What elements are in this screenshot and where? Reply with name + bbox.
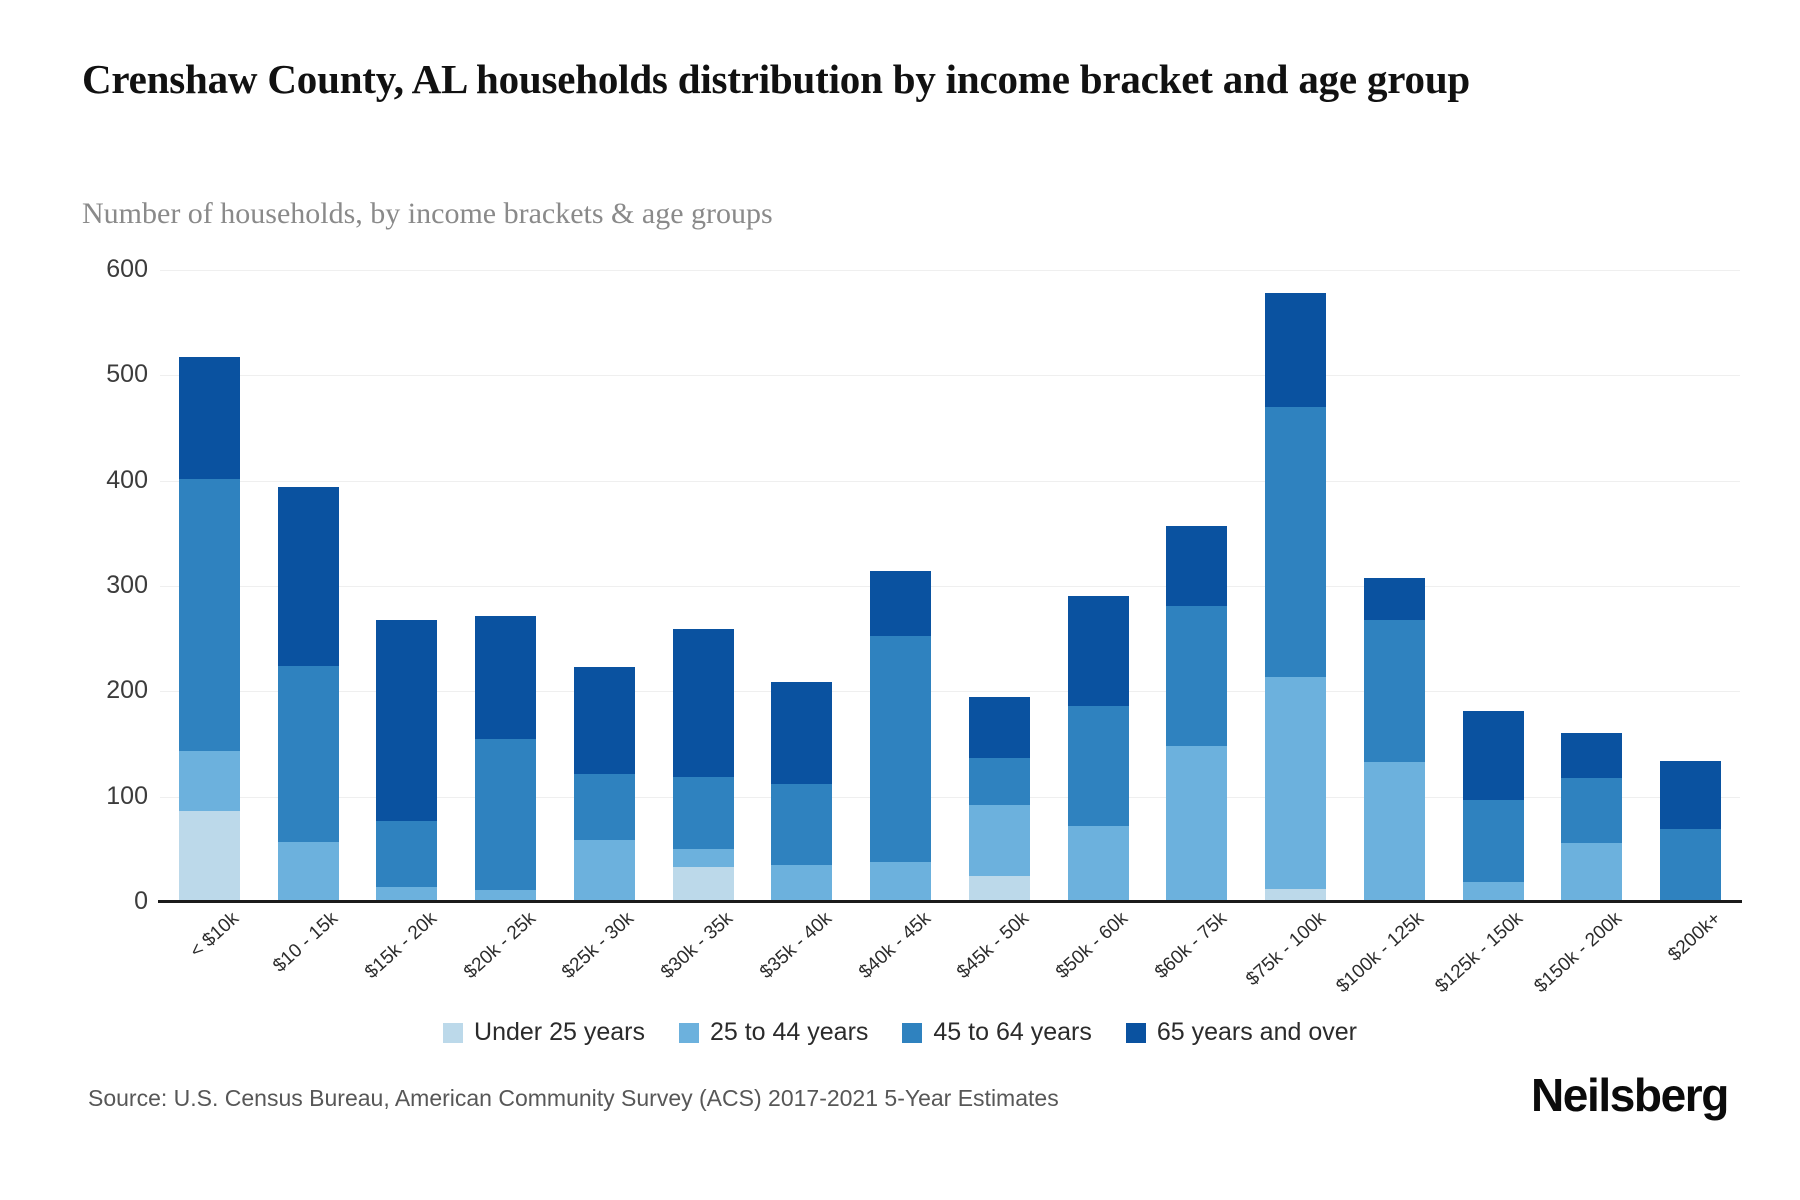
x-axis-tick-label: $75k - 100k — [1242, 908, 1331, 991]
bar-segment[interactable] — [1660, 761, 1721, 829]
legend-item[interactable]: 65 years and over — [1126, 1018, 1357, 1047]
legend-item-label: 25 to 44 years — [710, 1018, 868, 1047]
bar-segment[interactable] — [673, 867, 734, 902]
bar-segment[interactable] — [870, 571, 931, 635]
bar-segment[interactable] — [278, 487, 339, 666]
bar-segment[interactable] — [1265, 407, 1326, 677]
legend-item[interactable]: 25 to 44 years — [679, 1018, 868, 1047]
bar-segment[interactable] — [673, 777, 734, 850]
x-axis-line — [158, 900, 1742, 903]
chart-legend: Under 25 years25 to 44 years45 to 64 yea… — [0, 1018, 1800, 1047]
bar-group[interactable] — [969, 270, 1030, 902]
bar-segment[interactable] — [870, 862, 931, 902]
x-axis-tick-label: $30k - 35k — [657, 908, 738, 984]
bar-segment[interactable] — [1561, 733, 1622, 777]
legend-item-label: 45 to 64 years — [933, 1018, 1091, 1047]
bar-segment[interactable] — [969, 876, 1030, 902]
x-axis-tick-label: $20k - 25k — [460, 908, 541, 984]
x-axis-tick-label: $45k - 50k — [953, 908, 1034, 984]
bar-segment[interactable] — [1660, 829, 1721, 902]
bar-group[interactable] — [771, 270, 832, 902]
bar-group[interactable] — [179, 270, 240, 902]
y-axis-tick-label: 600 — [28, 255, 148, 284]
bar-segment[interactable] — [179, 811, 240, 902]
source-note: Source: U.S. Census Bureau, American Com… — [88, 1085, 1059, 1112]
x-axis-tick-label: $125k - 150k — [1431, 908, 1527, 998]
legend-item-label: 65 years and over — [1157, 1018, 1357, 1047]
bar-segment[interactable] — [1068, 596, 1129, 707]
bar-segment[interactable] — [1068, 706, 1129, 826]
y-axis-tick-label: 0 — [28, 887, 148, 916]
bar-group[interactable] — [1265, 270, 1326, 902]
bar-segment[interactable] — [673, 849, 734, 867]
bar-segment[interactable] — [1463, 800, 1524, 882]
x-axis-tick-label: $50k - 60k — [1052, 908, 1133, 984]
bar-segment[interactable] — [771, 682, 832, 784]
x-axis-tick-label: $40k - 45k — [855, 908, 936, 984]
bar-segment[interactable] — [1364, 762, 1425, 902]
bar-segment[interactable] — [1364, 578, 1425, 620]
x-axis-tick-label: $10 - 15k — [269, 908, 343, 977]
x-axis-tick-label: $25k - 30k — [558, 908, 639, 984]
bar-segment[interactable] — [1265, 293, 1326, 407]
bar-segment[interactable] — [278, 666, 339, 842]
bar-segment[interactable] — [870, 636, 931, 862]
x-axis-tick-label: $100k - 125k — [1333, 908, 1429, 998]
bar-segment[interactable] — [771, 865, 832, 902]
bar-segment[interactable] — [376, 620, 437, 821]
plot-area: 0100200300400500600 — [160, 270, 1740, 902]
bar-segment[interactable] — [1068, 826, 1129, 902]
bar-group[interactable] — [1561, 270, 1622, 902]
bar-segment[interactable] — [1561, 778, 1622, 843]
x-axis-tick-label: $35k - 40k — [756, 908, 837, 984]
chart-page: Crenshaw County, AL households distribut… — [0, 0, 1800, 1200]
bar-segment[interactable] — [969, 805, 1030, 876]
bar-segment[interactable] — [475, 739, 536, 891]
bar-segment[interactable] — [475, 616, 536, 739]
bar-segment[interactable] — [771, 784, 832, 865]
bar-segment[interactable] — [1166, 526, 1227, 606]
bar-segment[interactable] — [1463, 882, 1524, 902]
x-axis-tick-label: $60k - 75k — [1151, 908, 1232, 984]
bar-group[interactable] — [1166, 270, 1227, 902]
y-axis-tick-label: 100 — [28, 782, 148, 811]
legend-swatch-icon — [443, 1023, 463, 1043]
x-axis-tick-label: $150k - 200k — [1530, 908, 1626, 998]
bar-segment[interactable] — [278, 842, 339, 902]
legend-swatch-icon — [1126, 1023, 1146, 1043]
bar-segment[interactable] — [673, 629, 734, 776]
bar-segment[interactable] — [1463, 711, 1524, 799]
bar-segment[interactable] — [1364, 620, 1425, 762]
legend-item[interactable]: 45 to 64 years — [902, 1018, 1091, 1047]
bar-segment[interactable] — [1561, 843, 1622, 902]
brand-logo: Neilsberg — [1531, 1068, 1728, 1122]
page-title: Crenshaw County, AL households distribut… — [82, 52, 1722, 107]
bar-segment[interactable] — [1166, 746, 1227, 902]
bar-segment[interactable] — [1265, 677, 1326, 890]
bar-group[interactable] — [475, 270, 536, 902]
y-axis-tick-label: 200 — [28, 676, 148, 705]
bar-segment[interactable] — [969, 697, 1030, 758]
bar-segment[interactable] — [574, 667, 635, 773]
x-axis-tick-label: < $10k — [187, 908, 245, 963]
bar-segment[interactable] — [376, 821, 437, 887]
bar-group[interactable] — [1463, 270, 1524, 902]
chart-subtitle: Number of households, by income brackets… — [82, 196, 1582, 232]
legend-swatch-icon — [679, 1023, 699, 1043]
bar-segment[interactable] — [574, 840, 635, 902]
bar-group[interactable] — [870, 270, 931, 902]
y-axis-tick-label: 500 — [28, 360, 148, 389]
bar-group[interactable] — [1068, 270, 1129, 902]
bar-segment[interactable] — [179, 751, 240, 811]
legend-swatch-icon — [902, 1023, 922, 1043]
y-axis-tick-label: 400 — [28, 466, 148, 495]
y-axis-tick-label: 300 — [28, 571, 148, 600]
bar-group[interactable] — [376, 270, 437, 902]
legend-item[interactable]: Under 25 years — [443, 1018, 645, 1047]
legend-item-label: Under 25 years — [474, 1018, 645, 1047]
x-axis-tick-label: $15k - 20k — [361, 908, 442, 984]
bar-group[interactable] — [1660, 270, 1721, 902]
x-axis-tick-label: $200k+ — [1664, 908, 1725, 966]
bar-group[interactable] — [574, 270, 635, 902]
bar-group[interactable] — [1364, 270, 1425, 902]
bar-group[interactable] — [278, 270, 339, 902]
bar-segment[interactable] — [179, 357, 240, 478]
bar-segment[interactable] — [574, 774, 635, 840]
bar-segment[interactable] — [179, 479, 240, 752]
bar-segment[interactable] — [969, 758, 1030, 805]
bar-segment[interactable] — [1166, 606, 1227, 746]
bar-group[interactable] — [673, 270, 734, 902]
